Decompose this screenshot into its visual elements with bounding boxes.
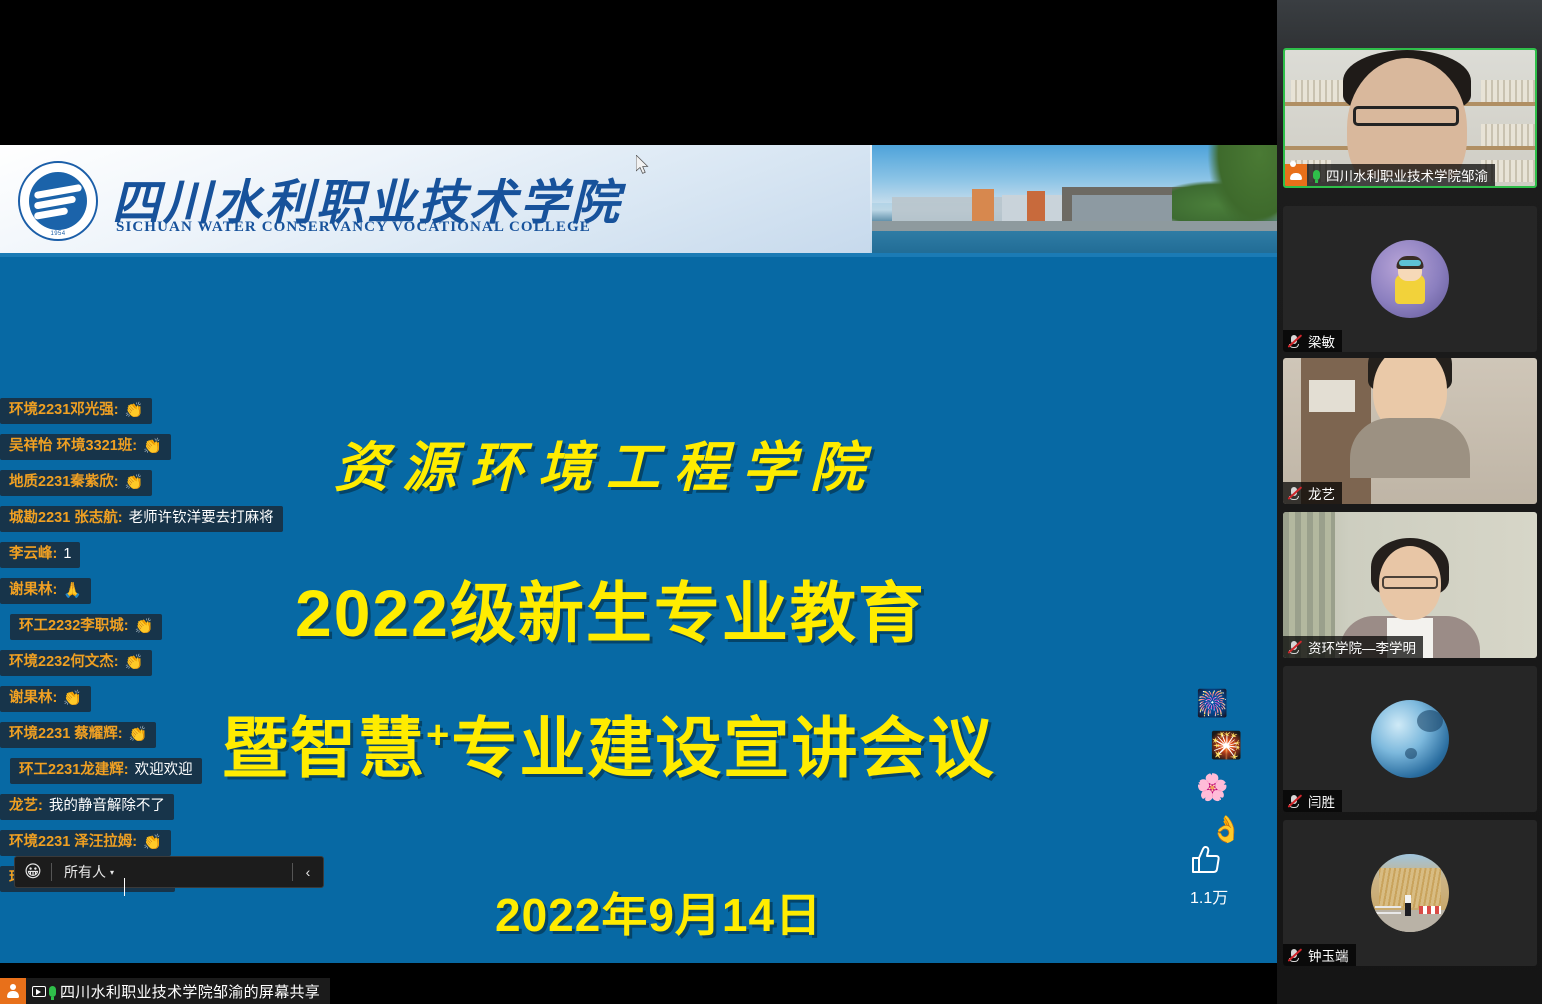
- microphone-muted-icon: [1287, 334, 1302, 348]
- header-divider: [0, 253, 1277, 257]
- chat-input-bar[interactable]: 😀 所有人 ▾ ‹: [14, 856, 324, 888]
- mouse-cursor-icon: [636, 155, 650, 175]
- like-counter[interactable]: 1.1万: [1190, 845, 1270, 913]
- chat-message: 环境2232何文杰:👏: [0, 650, 152, 676]
- chat-message: 李云峰:1: [0, 542, 80, 568]
- screen-share-notice: 四川水利职业技术学院邹渝的屏幕共享: [0, 978, 330, 1004]
- participant-nameplate: 梁敏: [1283, 330, 1342, 352]
- chat-message-sender: 地质2231秦紫欣:: [9, 474, 119, 491]
- thumbs-up-icon[interactable]: [1190, 845, 1270, 882]
- chat-message-sender: 环境2232何文杰:: [9, 654, 119, 671]
- chat-message: 环工2232李职城:👏: [10, 614, 162, 640]
- participant-name: 资环学院—李学明: [1308, 637, 1416, 657]
- microphone-icon: [1313, 170, 1320, 180]
- participant-tile[interactable]: 龙艺: [1283, 358, 1537, 504]
- chat-message: 环工2231龙建辉:欢迎欢迎: [10, 758, 202, 784]
- chat-message-text: 我的静音解除不了: [49, 798, 165, 815]
- college-name-en: SICHUAN WATER CONSERVANCY VOCATIONAL COL…: [116, 219, 591, 236]
- reaction-emoji: 🎆: [1196, 690, 1266, 716]
- slide-title-line1: 2022级新生专业教育: [295, 560, 926, 656]
- avatar: [1371, 240, 1449, 318]
- participant-tile[interactable]: 资环学院—李学明: [1283, 512, 1537, 658]
- slide-title-line2-b: 专业建设宣讲会议: [451, 711, 995, 785]
- microphone-muted-icon: [1287, 640, 1302, 654]
- college-logo-icon: 1954: [18, 161, 98, 241]
- letterbox-top: [0, 0, 1277, 145]
- reaction-emoji: 🌸: [1196, 774, 1266, 800]
- microphone-muted-icon: [1287, 948, 1302, 962]
- chat-message-text: 老师许钦洋要去打麻将: [129, 510, 274, 527]
- chat-message-sender: 李云峰:: [9, 546, 57, 563]
- chat-message-sender: 龙艺:: [9, 798, 43, 815]
- slide-department-title: 资源环境工程学院: [334, 423, 878, 502]
- chat-message-emoji: 👏: [125, 654, 144, 671]
- participant-name: 梁敏: [1308, 331, 1335, 351]
- avatar: [1371, 700, 1449, 778]
- floating-reactions: 🎆🎇🌸👌: [1196, 690, 1266, 858]
- chat-message: 环境2231邓光强:👏: [0, 398, 152, 424]
- reaction-emoji: 🎇: [1210, 732, 1266, 758]
- shared-screen-area[interactable]: 1954 四川水利职业技术学院 SICHUAN WATER CONSERVANC…: [0, 0, 1277, 1004]
- slide-title-line2-sup: +: [426, 713, 451, 757]
- chat-message-emoji: 👏: [125, 402, 144, 419]
- person-icon: [1285, 164, 1307, 186]
- campus-photo: [872, 145, 1277, 257]
- chat-message: 谢果林:🙏: [0, 578, 91, 604]
- chat-message-sender: 城勘2231 张志航:: [9, 510, 123, 527]
- chat-message: 地质2231秦紫欣:👏: [0, 470, 152, 496]
- chat-recipient-selector[interactable]: 所有人 ▾: [52, 862, 122, 882]
- chat-message-text: 1: [63, 546, 71, 563]
- chevron-down-icon: ▾: [110, 868, 114, 877]
- participant-tile[interactable]: 钟玉端: [1283, 820, 1537, 966]
- chat-message: 谢果林:👏: [0, 686, 91, 712]
- share-notice-icons: [26, 986, 60, 997]
- chat-message-sender: 环境2231邓光强:: [9, 402, 119, 419]
- chat-message-emoji: 👏: [63, 690, 82, 707]
- reaction-emoji: 👌: [1210, 816, 1266, 842]
- chat-message: 环境2231 泽汪拉姆:👏: [0, 830, 171, 856]
- like-count-label: 1.1万: [1190, 884, 1270, 908]
- participant-name: 钟玉端: [1308, 945, 1349, 965]
- participant-nameplate: 资环学院—李学明: [1283, 636, 1423, 658]
- chat-message-sender: 谢果林:: [9, 582, 57, 599]
- chat-message-list: 环境2231邓光强:👏吴祥怡 环境3321班:👏地质2231秦紫欣:👏城勘223…: [0, 398, 340, 860]
- person-icon: [0, 978, 26, 1004]
- logo-year: 1954: [51, 231, 66, 237]
- chat-message-sender: 环境2231 泽汪拉姆:: [9, 834, 137, 851]
- participant-name: 龙艺: [1308, 483, 1335, 503]
- chat-message-sender: 环工2232李职城:: [19, 618, 129, 635]
- participant-tile[interactable]: 四川水利职业技术学院邹渝: [1283, 48, 1537, 188]
- slide-date: 2022年9月14日: [495, 879, 822, 945]
- screen-share-icon: [32, 986, 46, 997]
- participant-nameplate: 四川水利职业技术学院邹渝: [1285, 164, 1495, 186]
- chat-message-emoji: 👏: [143, 834, 162, 851]
- participant-nameplate: 钟玉端: [1283, 944, 1356, 966]
- chat-message: 环境2231 蔡耀辉:👏: [0, 722, 156, 748]
- chat-message-emoji: 🙏: [63, 582, 82, 599]
- chat-message-sender: 环境2231 蔡耀辉:: [9, 726, 123, 743]
- participant-name: 闫胜: [1308, 791, 1335, 811]
- avatar: [1371, 854, 1449, 932]
- participant-filmstrip[interactable]: 四川水利职业技术学院邹渝梁敏龙艺资环学院—李学明闫胜钟玉端: [1277, 0, 1542, 1004]
- zoom-meeting-window: 1954 四川水利职业技术学院 SICHUAN WATER CONSERVANC…: [0, 0, 1542, 1004]
- participant-tile[interactable]: 梁敏: [1283, 206, 1537, 352]
- chat-message-emoji: 👏: [125, 474, 144, 491]
- microphone-icon: [49, 986, 56, 997]
- chat-collapse-button[interactable]: ‹: [293, 864, 323, 880]
- participant-tile[interactable]: 闫胜: [1283, 666, 1537, 812]
- emoji-picker-icon[interactable]: 😀: [15, 862, 51, 882]
- participant-nameplate: 闫胜: [1283, 790, 1342, 812]
- chat-message-text: 欢迎欢迎: [135, 762, 193, 779]
- screen-share-label: 四川水利职业技术学院邹渝的屏幕共享: [60, 981, 330, 1002]
- chat-message-emoji: 👏: [143, 438, 162, 455]
- chat-message-sender: 谢果林:: [9, 690, 57, 707]
- participant-name: 四川水利职业技术学院邹渝: [1326, 165, 1488, 185]
- text-caret: [124, 878, 125, 896]
- microphone-muted-icon: [1287, 794, 1302, 808]
- chat-recipient-label: 所有人: [64, 862, 106, 882]
- share-bottom-bar: 四川水利职业技术学院邹渝的屏幕共享: [0, 963, 1277, 1004]
- participant-nameplate: 龙艺: [1283, 482, 1342, 504]
- chat-message-emoji: 👏: [135, 618, 154, 635]
- chat-message-sender: 吴祥怡 环境3321班:: [9, 438, 137, 455]
- chat-message: 吴祥怡 环境3321班:👏: [0, 434, 171, 460]
- chat-message-sender: 环工2231龙建辉:: [19, 762, 129, 779]
- chat-message-emoji: 👏: [129, 726, 148, 743]
- chat-message: 龙艺:我的静音解除不了: [0, 794, 174, 820]
- chat-message: 城勘2231 张志航:老师许钦洋要去打麻将: [0, 506, 283, 532]
- microphone-muted-icon: [1287, 486, 1302, 500]
